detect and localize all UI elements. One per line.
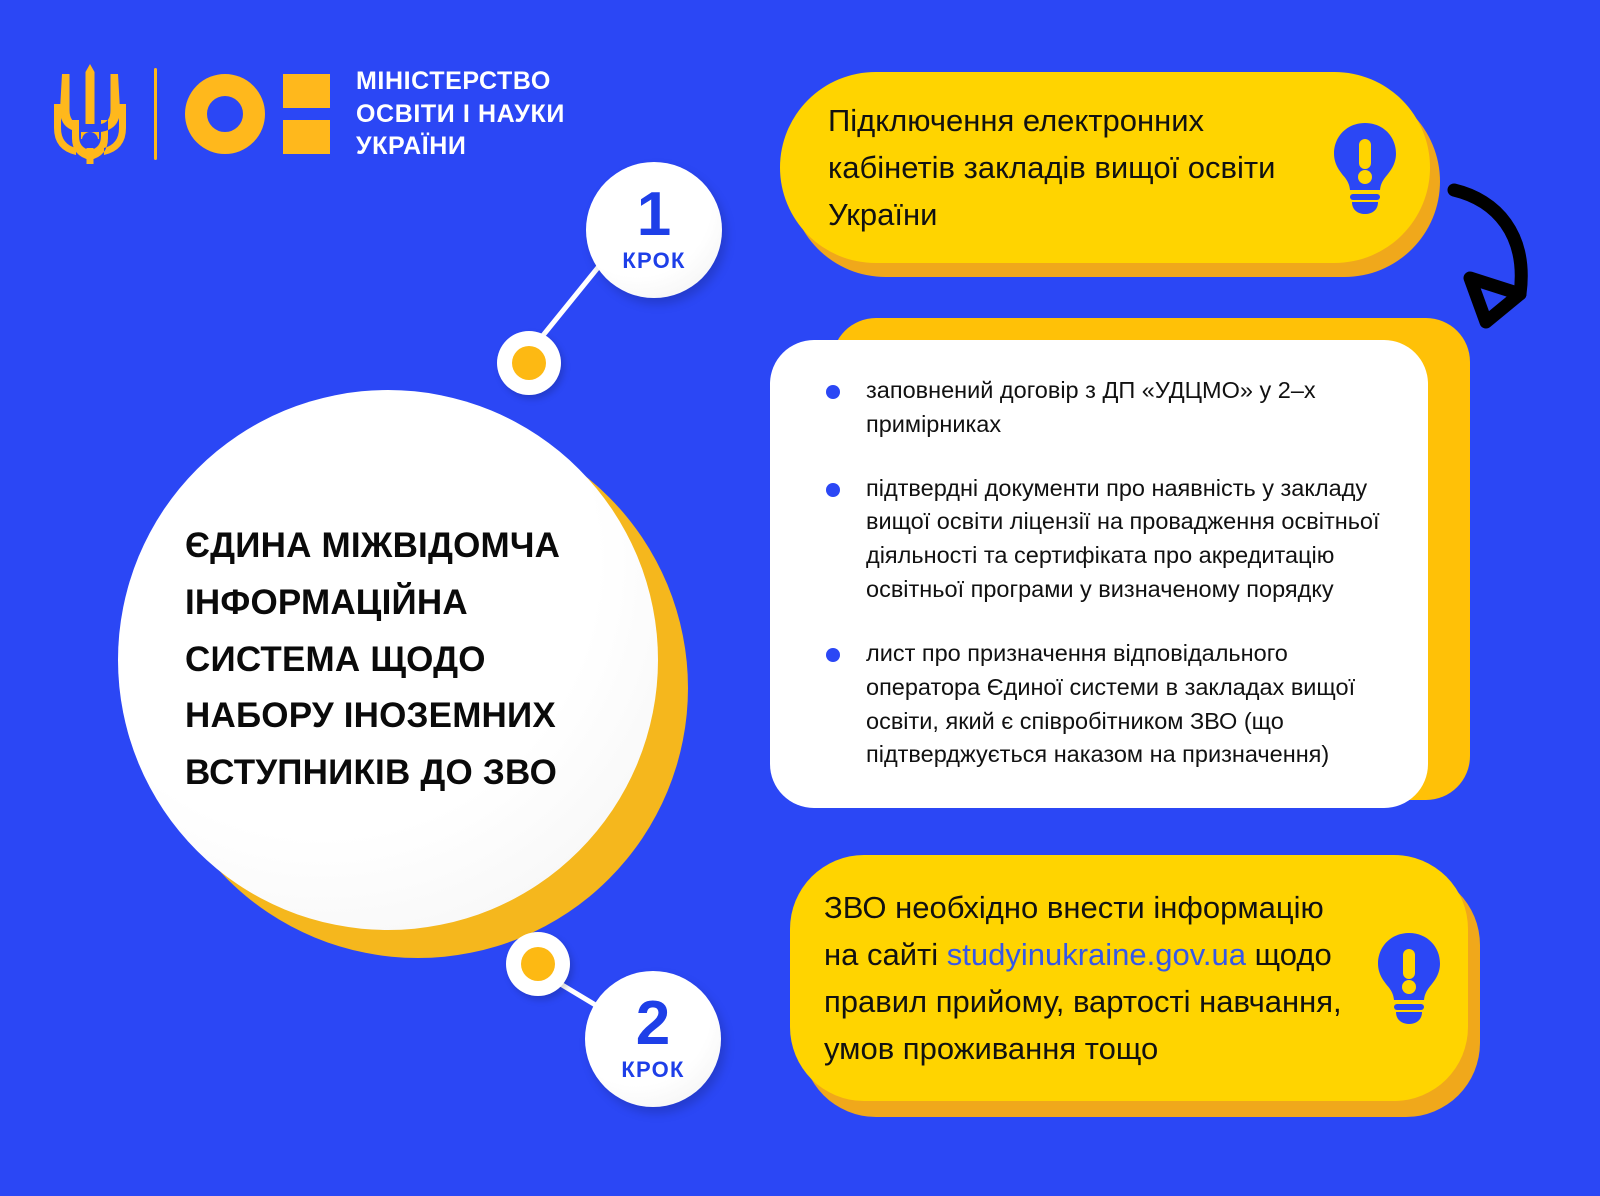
- documents-list: заповнений договір з ДП «УДЦМО» у 2–х пр…: [800, 374, 1398, 772]
- step-2-number: 2: [636, 995, 670, 1052]
- card-body: ЗВО необхідно внести інформацію на сайті…: [790, 855, 1468, 1101]
- logo-line-2: ОСВІТИ І НАУКИ: [356, 98, 565, 131]
- page-title: ЄДИНА МІЖВІДОМЧА ІНФОРМАЦІЙНА СИСТЕМА ЩО…: [153, 518, 623, 801]
- lightbulb-exclamation-icon: [1370, 931, 1448, 1025]
- step-1-card-text: Підключення електронних кабінетів заклад…: [828, 97, 1318, 238]
- logo-line-1: МІНІСТЕРСТВО: [356, 65, 565, 98]
- step-1-number: 1: [637, 186, 671, 243]
- studyinukraine-link[interactable]: studyinukraine.gov.ua: [947, 937, 1246, 972]
- step-1-card: Підключення електронних кабінетів заклад…: [780, 72, 1440, 277]
- main-title-circle: ЄДИНА МІЖВІДОМЧА ІНФОРМАЦІЙНА СИСТЕМА ЩО…: [118, 390, 688, 960]
- list-item: заповнений договір з ДП «УДЦМО» у 2–х пр…: [800, 374, 1398, 442]
- step-1-anchor-dot: [497, 331, 561, 395]
- list-item: підтвердні документи про наявність у зак…: [800, 472, 1398, 607]
- step-2-badge: 2 КРОК: [585, 971, 721, 1107]
- ukraine-trident-icon: [52, 62, 128, 166]
- mon-o-bars-icon: [185, 71, 330, 157]
- card-body: заповнений договір з ДП «УДЦМО» у 2–х пр…: [770, 340, 1428, 808]
- bullet-dot-icon: [826, 385, 840, 399]
- list-item-text: заповнений договір з ДП «УДЦМО» у 2–х пр…: [866, 377, 1316, 437]
- ministry-logo: МІНІСТЕРСТВО ОСВІТИ І НАУКИ УКРАЇНИ: [52, 58, 565, 170]
- step-1-badge: 1 КРОК: [586, 162, 722, 298]
- step-1-label: КРОК: [622, 248, 685, 274]
- step-2-card-text: ЗВО необхідно внести інформацію на сайті…: [824, 884, 1364, 1072]
- step-2-card: ЗВО необхідно внести інформацію на сайті…: [790, 855, 1480, 1117]
- curved-down-left-arrow-icon: [1424, 182, 1584, 332]
- lightbulb-exclamation-icon: [1326, 121, 1404, 215]
- circle-face: ЄДИНА МІЖВІДОМЧА ІНФОРМАЦІЙНА СИСТЕМА ЩО…: [118, 390, 658, 930]
- step-2-anchor-dot: [506, 932, 570, 996]
- logo-wordmark: МІНІСТЕРСТВО ОСВІТИ І НАУКИ УКРАЇНИ: [356, 65, 565, 163]
- logo-line-3: УКРАЇНИ: [356, 130, 565, 163]
- documents-card: заповнений договір з ДП «УДЦМО» у 2–х пр…: [770, 318, 1470, 808]
- list-item: лист про призначення відповідального опе…: [800, 637, 1398, 772]
- list-item-text: лист про призначення відповідального опе…: [866, 640, 1355, 767]
- logo-divider: [154, 68, 157, 160]
- infographic-canvas: МІНІСТЕРСТВО ОСВІТИ І НАУКИ УКРАЇНИ ЄДИН…: [0, 0, 1600, 1196]
- list-item-text: підтвердні документи про наявність у зак…: [866, 475, 1380, 602]
- card-body: Підключення електронних кабінетів заклад…: [780, 72, 1430, 263]
- bullet-dot-icon: [826, 648, 840, 662]
- step-2-label: КРОК: [621, 1057, 684, 1083]
- bullet-dot-icon: [826, 483, 840, 497]
